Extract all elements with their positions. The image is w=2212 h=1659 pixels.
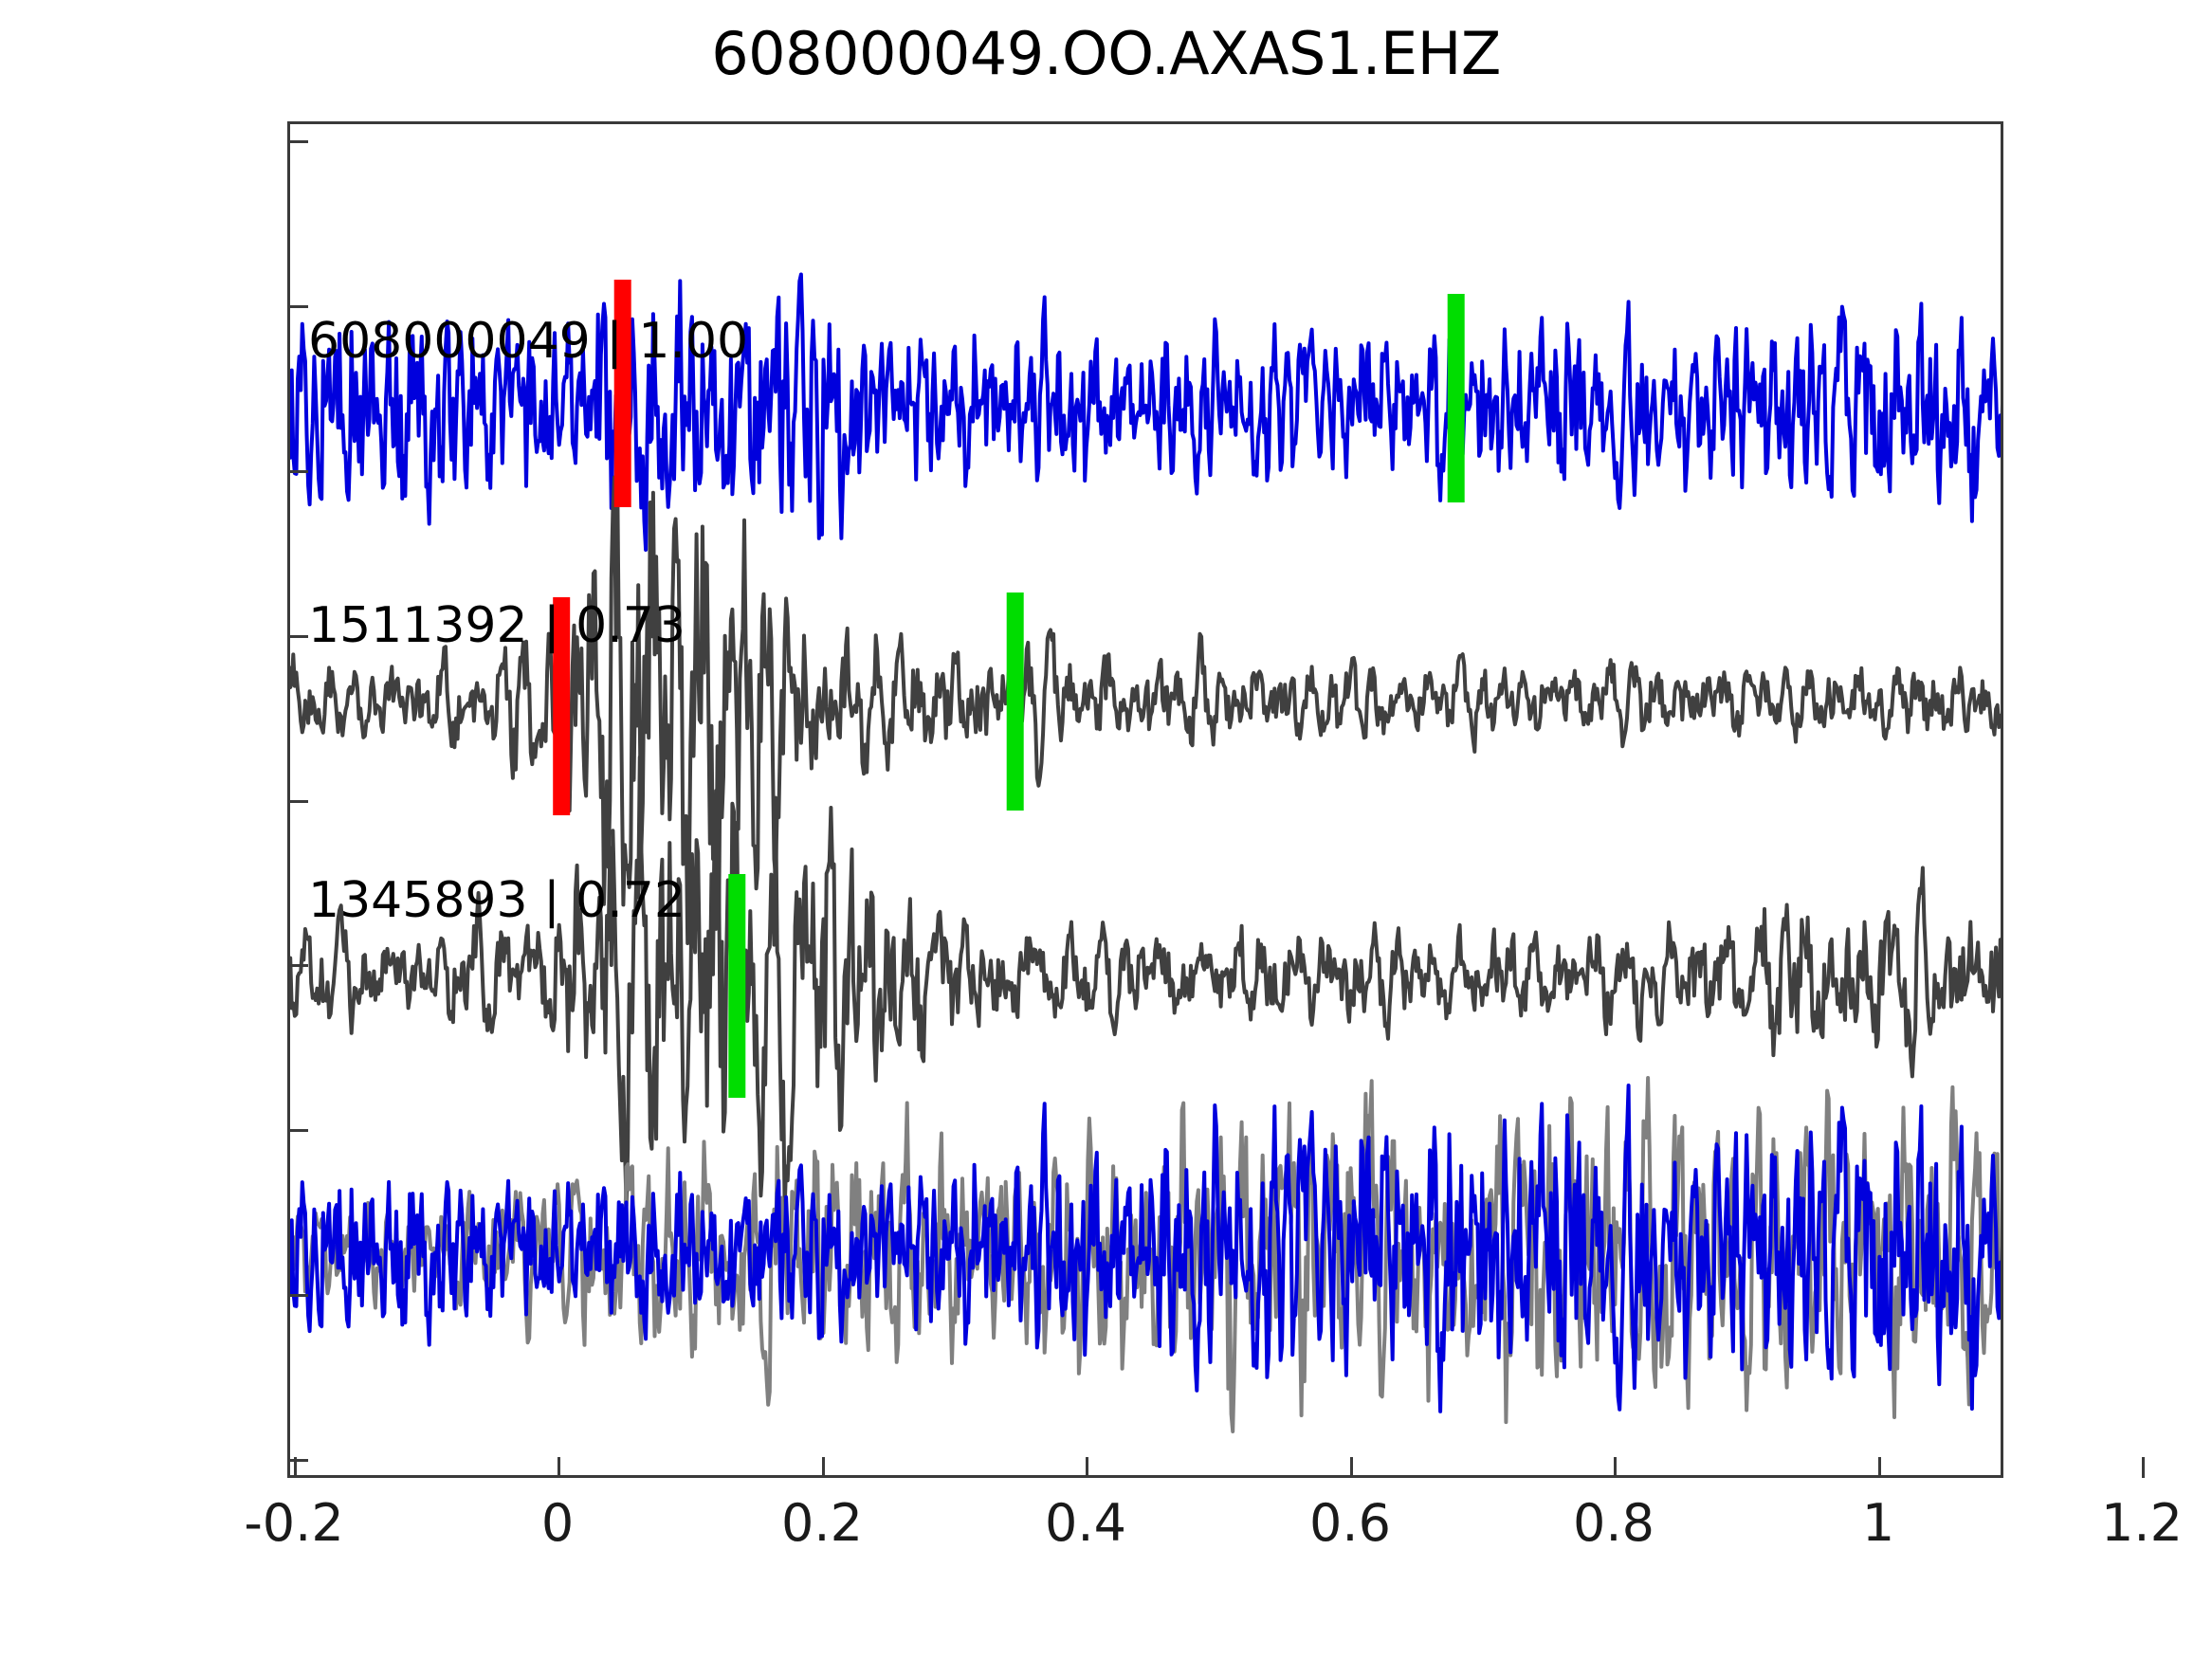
- figure-canvas: 608000049.OO.AXAS1.EHZ -0.200.20.40.60.8…: [0, 0, 2212, 1659]
- xtick-mark: [1350, 1457, 1353, 1478]
- trace-label: 1345893 | 0.72: [308, 872, 686, 929]
- pick-marker-pick-s[interactable]: [1448, 294, 1465, 502]
- xtick-label: 0.4: [1045, 1493, 1126, 1553]
- trace-label: 1511392 | 0.73: [308, 597, 686, 654]
- pick-marker-pick-s[interactable]: [728, 874, 745, 1098]
- xtick-label: 0: [541, 1493, 574, 1553]
- xtick-label: 1: [1862, 1493, 1894, 1553]
- xtick-mark: [2142, 1457, 2145, 1478]
- ytick-mark: [287, 800, 308, 803]
- xtick-mark: [1878, 1457, 1881, 1478]
- xtick-mark: [558, 1457, 560, 1478]
- ytick-mark: [287, 140, 308, 143]
- ytick-mark: [287, 1294, 308, 1297]
- xtick-label: 0.8: [1573, 1493, 1654, 1553]
- xtick-mark: [822, 1457, 825, 1478]
- trace-label: 608000049 | 1.00: [308, 313, 748, 370]
- xtick-mark: [1086, 1457, 1088, 1478]
- ytick-mark: [287, 1459, 308, 1462]
- ytick-mark: [287, 305, 308, 308]
- xtick-label: 0.6: [1309, 1493, 1391, 1553]
- pick-marker-pick-s[interactable]: [1007, 592, 1024, 811]
- xtick-label: 1.2: [2101, 1493, 2183, 1553]
- page-title: 608000049.OO.AXAS1.EHZ: [0, 19, 2212, 88]
- xtick-mark: [1614, 1457, 1617, 1478]
- ytick-mark: [287, 470, 308, 473]
- xtick-label: -0.2: [244, 1493, 343, 1553]
- ytick-mark: [287, 635, 308, 638]
- ytick-mark: [287, 1129, 308, 1132]
- ytick-mark: [287, 964, 308, 967]
- xtick-label: 0.2: [781, 1493, 863, 1553]
